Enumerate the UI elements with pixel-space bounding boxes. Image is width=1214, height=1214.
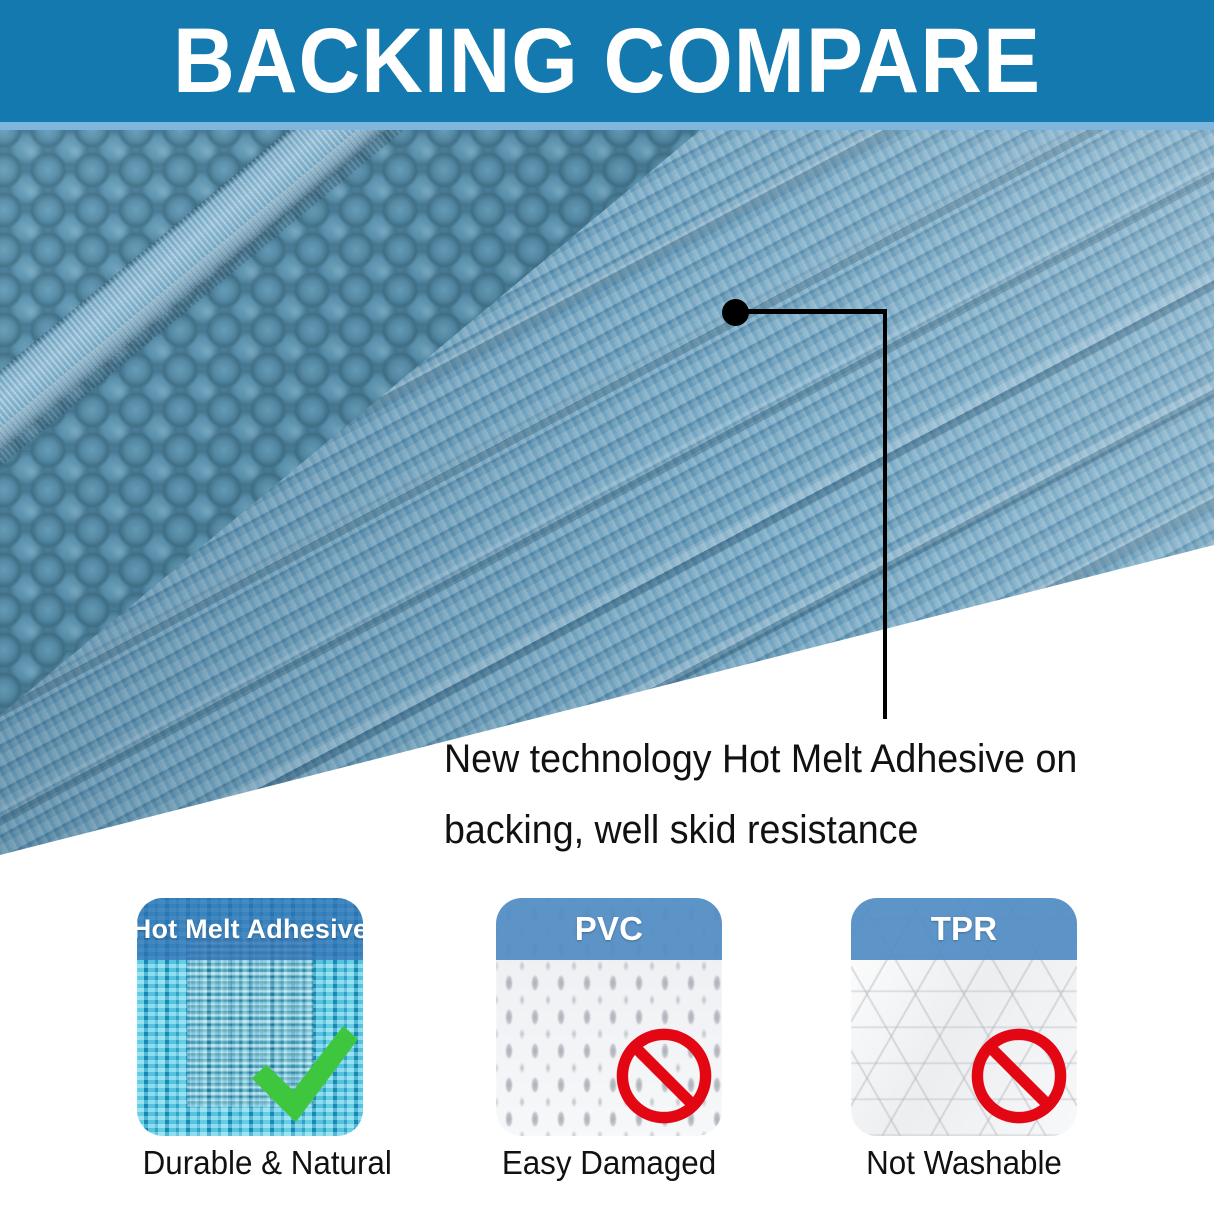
card-header-tpr: TPR xyxy=(851,898,1077,960)
card-label-easy-damaged: Easy Damaged xyxy=(502,1144,717,1182)
caption-line-1: New technology Hot Melt Adhesive on xyxy=(444,724,1121,795)
prohibition-icon xyxy=(612,1024,716,1128)
card-label-not-washable: Not Washable xyxy=(857,1144,1072,1182)
header-underline-strip xyxy=(0,122,1214,130)
comparison-card-hot-melt-adhesive[interactable]: Hot Melt Adhesive xyxy=(137,898,363,1136)
comparison-card-tpr[interactable]: TPR xyxy=(851,898,1077,1136)
page-title: BACKING COMPARE xyxy=(42,0,1171,122)
comparison-card-pvc[interactable]: PVC xyxy=(496,898,722,1136)
infographic-page: BACKING COMPARE New technology Hot Melt … xyxy=(0,0,1214,1214)
card-label-durable-natural: Durable & Natural xyxy=(143,1144,358,1182)
callout-leader-horizontal xyxy=(735,309,887,314)
callout-leader-vertical xyxy=(883,309,887,719)
callout-caption: New technology Hot Melt Adhesive on back… xyxy=(444,724,1121,866)
check-icon xyxy=(239,1010,363,1132)
comparison-cards: Hot Melt Adhesive Durable & Natural PVC … xyxy=(0,898,1214,1138)
card-header-pvc: PVC xyxy=(496,898,722,960)
prohibition-icon xyxy=(967,1024,1071,1128)
card-header-hot-melt-adhesive: Hot Melt Adhesive xyxy=(137,898,363,960)
caption-line-2: backing, well skid resistance xyxy=(444,795,1121,866)
